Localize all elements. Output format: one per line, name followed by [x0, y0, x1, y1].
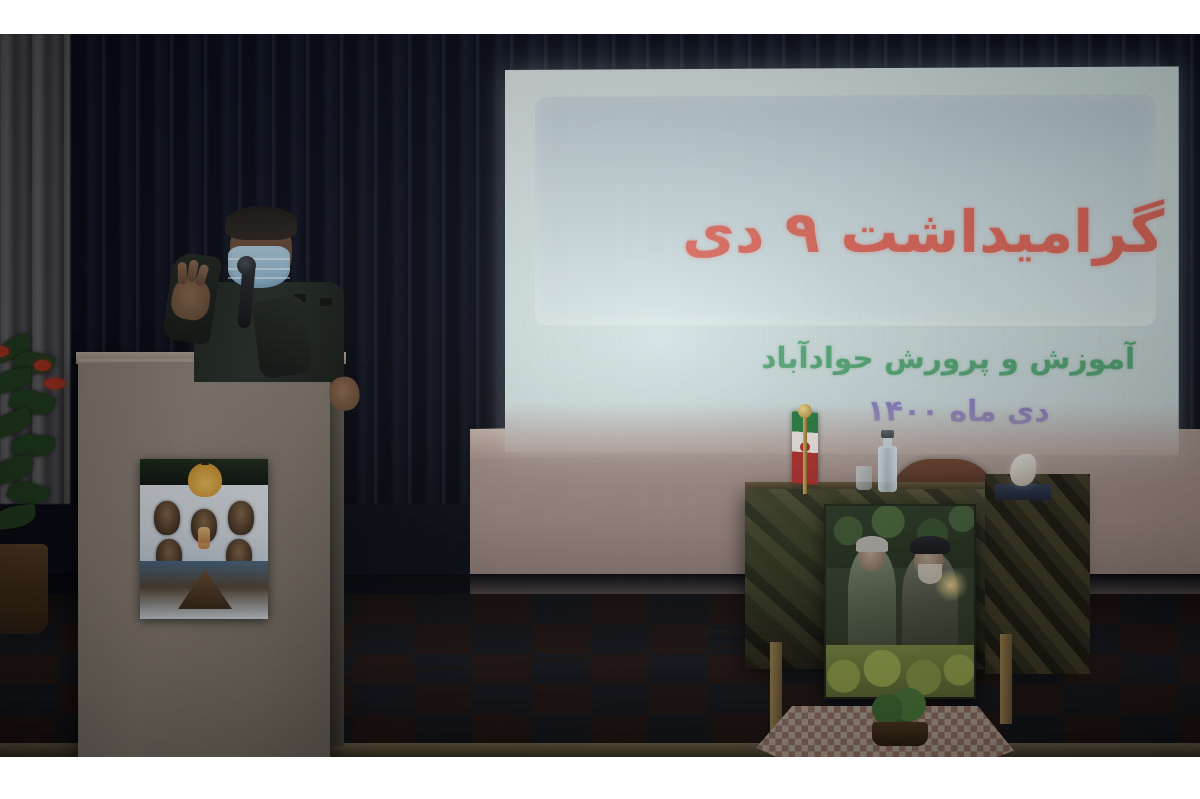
speaker-hand: [169, 275, 213, 322]
speaker-hair: [225, 206, 297, 240]
small-floor-plant-pot: [872, 722, 928, 746]
drinking-glass: [856, 466, 872, 490]
martyrs-poster: [140, 459, 268, 619]
poster-portrait: [154, 501, 180, 535]
table-leg: [1000, 634, 1012, 724]
slide-subtitle-organization: آموزش و پرورش حوادآباد: [525, 340, 1135, 376]
flag-finial-icon: [798, 404, 812, 418]
portrait-figure-left-hair: [856, 536, 888, 552]
slide-title: گرامیداشت ۹ دی: [525, 199, 1164, 266]
shrine-dome-icon: [188, 463, 222, 497]
projection-screen: گرامیداشت ۹ دی آموزش و پرورش حوادآباد دی…: [505, 66, 1179, 455]
poster-portrait: [228, 501, 254, 535]
screen-bottom-fade: [505, 402, 1179, 456]
speaker-mic-arm: [251, 295, 312, 379]
portrait-foliage: [826, 506, 974, 568]
flag-pole: [803, 412, 807, 494]
portrait-light-flare: [934, 568, 968, 602]
plant-pot: [0, 544, 48, 634]
dove-ornament-icon: [1010, 454, 1036, 486]
portrait-figure-right-turban: [910, 536, 950, 554]
ceremony-photograph: گرامیداشت ۹ دی آموزش و پرورش حوادآباد دی…: [0, 34, 1200, 757]
water-bottle: [878, 446, 897, 492]
decoration-base: [995, 484, 1051, 500]
potted-plant: [0, 334, 70, 634]
poster-candle-icon: [198, 527, 210, 549]
screenshot-root: گرامیداشت ۹ دی آموزش و پرورش حوادآباد دی…: [0, 0, 1200, 799]
plant-flower: [44, 378, 66, 389]
speaker: [170, 202, 385, 377]
table-leg: [770, 642, 782, 732]
water-bottle-cap: [881, 430, 894, 438]
microphone-head-icon: [237, 256, 256, 275]
plant-flower: [34, 360, 51, 371]
framed-portrait: [824, 504, 976, 699]
uniform-shoulder-patch: [320, 298, 332, 306]
